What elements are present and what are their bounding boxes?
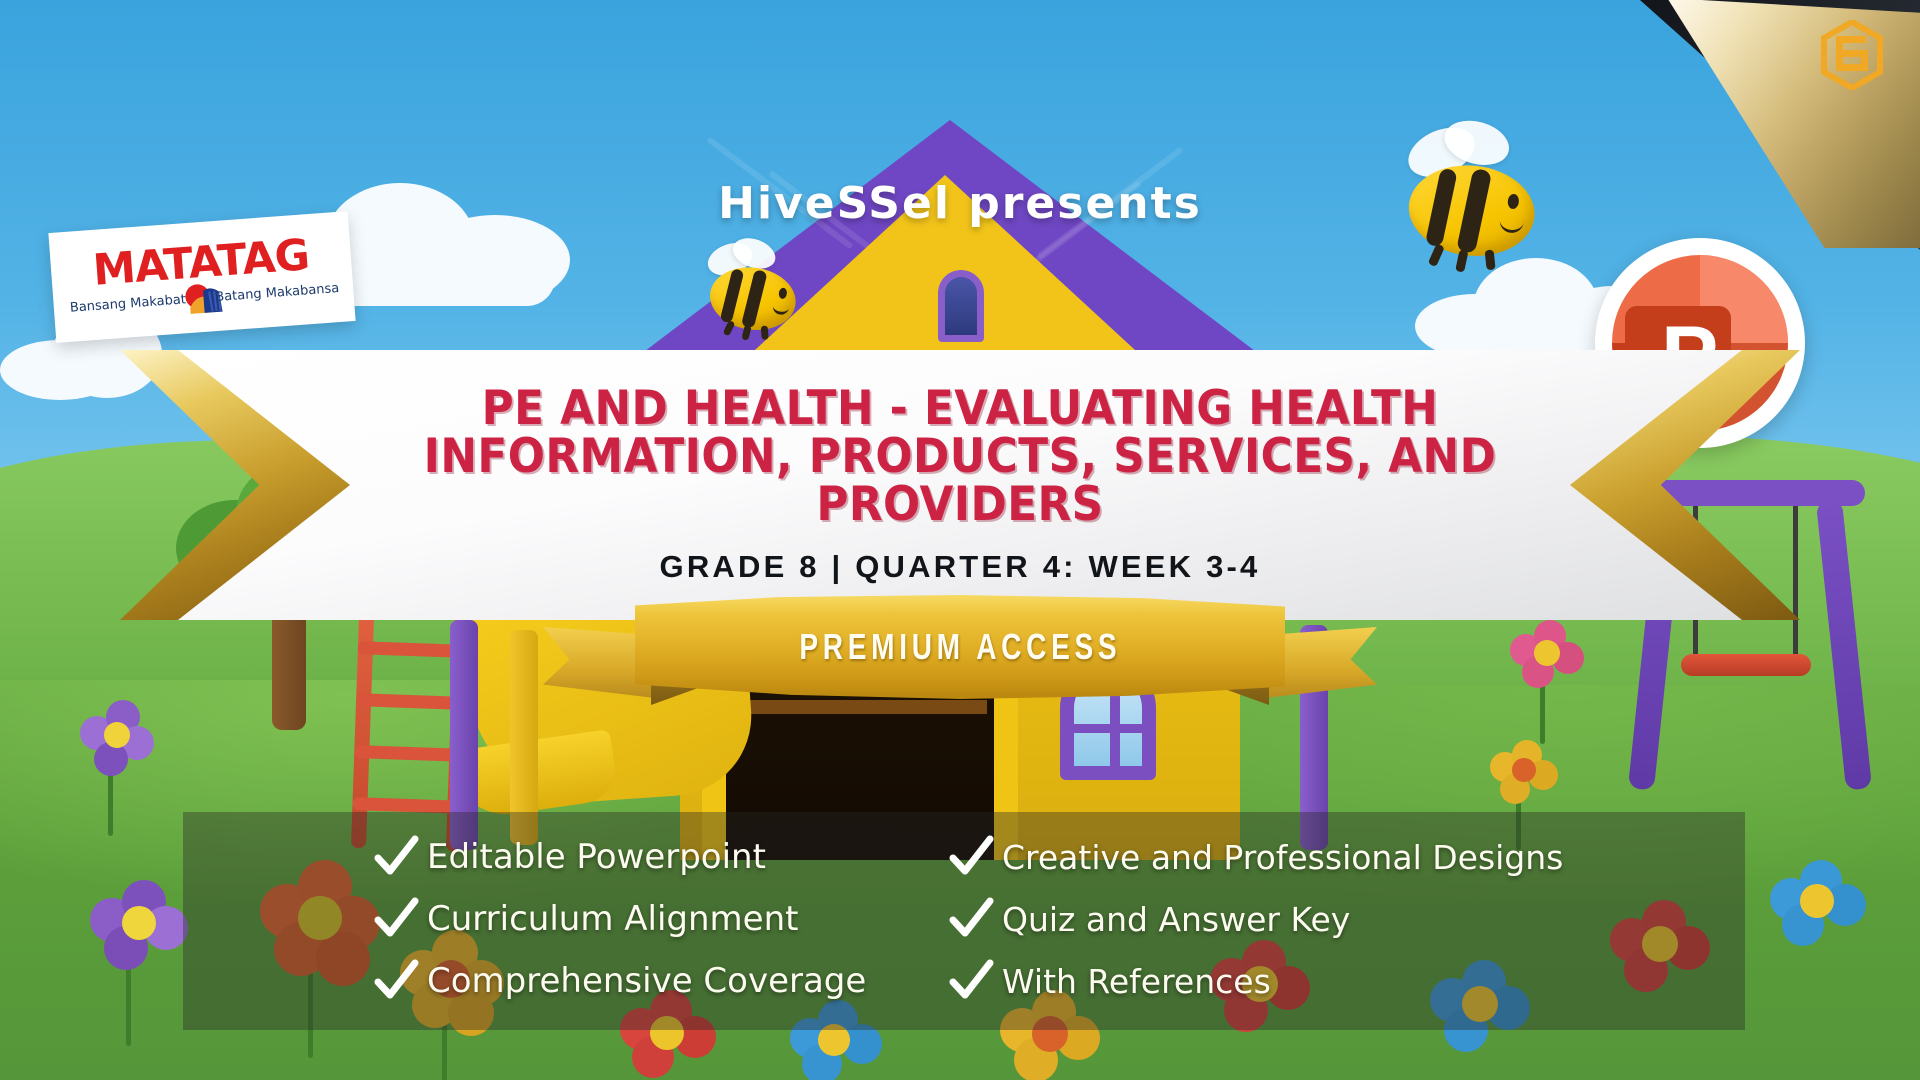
page-title: PE AND HEALTH - EVALUATING HEALTH INFORM…	[374, 385, 1546, 529]
ribbon-body: PREMIUM ACCESS	[635, 595, 1285, 699]
feature-label: Comprehensive Coverage	[427, 961, 866, 1001]
feature-label: Quiz and Answer Key	[1002, 900, 1350, 939]
poster-canvas: MATATAG Bansang Makabata Batang Makabans…	[0, 0, 1920, 1080]
presents-heading: HiveSSel presents	[0, 178, 1920, 229]
feature-label: With References	[1002, 962, 1271, 1001]
presents-text: HiveSSel presents	[718, 178, 1202, 229]
feature-item: With References	[948, 950, 1603, 1012]
feature-label: Creative and Professional Designs	[1002, 838, 1563, 877]
checkmark-icon	[373, 896, 419, 942]
feature-label: Curriculum Alignment	[427, 899, 798, 939]
feature-label: Editable Powerpoint	[427, 837, 766, 877]
checkmark-icon	[373, 958, 419, 1004]
feature-item: Curriculum Alignment	[373, 888, 843, 950]
feature-item: Comprehensive Coverage	[373, 950, 843, 1012]
bee-left-icon	[694, 243, 816, 352]
features-column-left: Editable Powerpoint Curriculum Alignment…	[183, 812, 843, 1030]
feature-item: Editable Powerpoint	[373, 826, 843, 888]
features-column-right: Creative and Professional Designs Quiz a…	[843, 812, 1603, 1030]
hive-hexagon-logo-icon	[1820, 20, 1884, 90]
grade-quarter-subtitle: GRADE 8 | QUARTER 4: WEEK 3-4	[660, 549, 1261, 585]
features-panel: Editable Powerpoint Curriculum Alignment…	[183, 812, 1745, 1030]
banner-content: PE AND HEALTH - EVALUATING HEALTH INFORM…	[300, 350, 1620, 620]
checkmark-icon	[948, 958, 994, 1004]
feature-item: Creative and Professional Designs	[948, 826, 1603, 888]
matatag-tagline-left: Bansang Makabata	[69, 291, 194, 315]
checkmark-icon	[373, 834, 419, 880]
checkmark-icon	[948, 834, 994, 880]
matatag-logo: MATATAG Bansang Makabata Batang Makabans…	[48, 211, 355, 343]
title-banner: PE AND HEALTH - EVALUATING HEALTH INFORM…	[0, 350, 1920, 620]
checkmark-icon	[948, 896, 994, 942]
feature-item: Quiz and Answer Key	[948, 888, 1603, 950]
premium-access-label: PREMIUM ACCESS	[799, 626, 1121, 668]
premium-ribbon: PREMIUM ACCESS	[635, 595, 1285, 715]
